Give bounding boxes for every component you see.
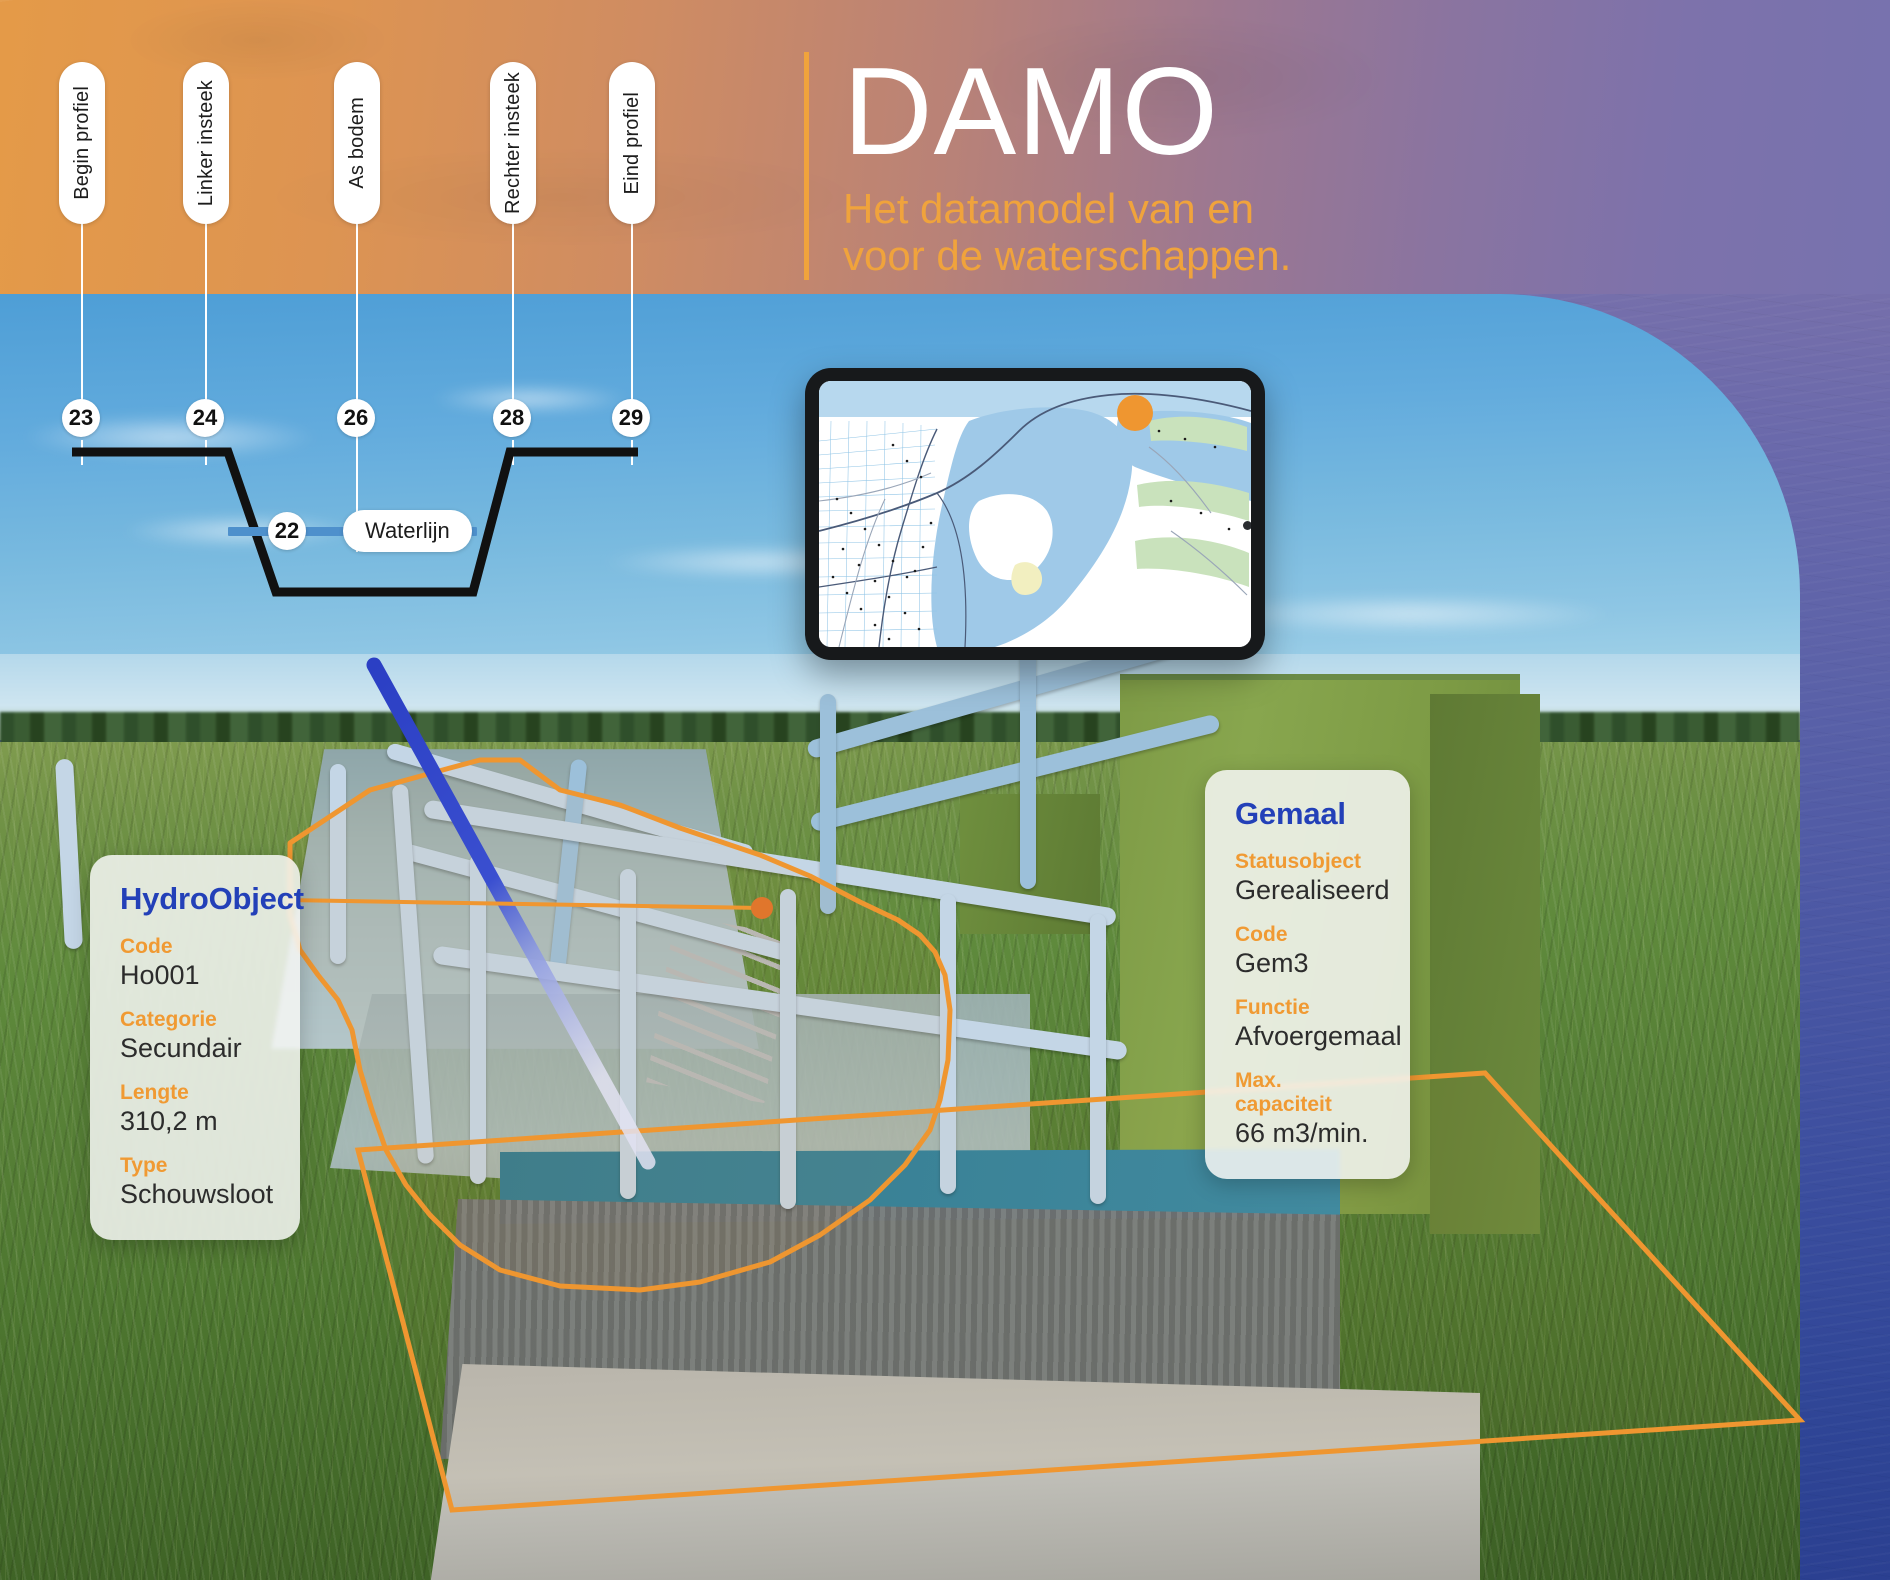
card-hydroobject-key-1: Categorie xyxy=(120,1008,270,1032)
badge-26[interactable]: 26 xyxy=(337,399,375,437)
subtitle-line-2: voor de waterschappen. xyxy=(843,232,1291,280)
label-pill-as-bodem-text: As bodem xyxy=(346,97,369,189)
concrete-platform xyxy=(420,1364,1480,1580)
card-hydroobject-value-1: Secundair xyxy=(120,1033,270,1064)
badge-28-text: 28 xyxy=(500,405,524,431)
card-gemaal[interactable]: Gemaal Statusobject Gerealiseerd Code Ge… xyxy=(1205,770,1410,1179)
label-pill-eind-profiel[interactable]: Eind profiel xyxy=(609,62,655,224)
badge-28[interactable]: 28 xyxy=(493,399,531,437)
card-gemaal-value-2: Afvoergemaal xyxy=(1235,1021,1380,1052)
waterline-label-pill[interactable]: Waterlijn xyxy=(343,510,472,552)
poster-canvas: DAMO Het datamodel van en voor de waters… xyxy=(0,0,1890,1580)
pump-station-side xyxy=(1430,694,1540,1234)
card-gemaal-key-3: Max. capaciteit xyxy=(1235,1069,1380,1117)
card-gemaal-value-1: Gem3 xyxy=(1235,948,1380,979)
leader-line-linker-insteek xyxy=(205,222,207,414)
badge-22-waterline[interactable]: 22 xyxy=(268,512,306,550)
leader-line-rechter-insteek-lower xyxy=(512,440,514,465)
label-pill-linker-insteek-text: Linker insteek xyxy=(195,80,218,206)
tablet-home-indicator xyxy=(1243,521,1251,530)
label-pill-rechter-insteek[interactable]: Rechter insteek xyxy=(490,62,536,224)
label-pill-as-bodem[interactable]: As bodem xyxy=(334,62,380,224)
card-gemaal-value-0: Gerealiseerd xyxy=(1235,875,1380,906)
leader-line-rechter-insteek xyxy=(512,222,514,414)
brand-block: DAMO Het datamodel van en voor de waters… xyxy=(804,52,1291,280)
card-hydroobject-value-3: Schouwsloot xyxy=(120,1179,270,1210)
badge-22-text: 22 xyxy=(275,518,299,544)
card-hydroobject-title: HydroObject xyxy=(120,881,270,917)
card-gemaal-key-2: Functie xyxy=(1235,996,1380,1020)
badge-24-text: 24 xyxy=(193,405,217,431)
label-pill-begin-profiel[interactable]: Begin profiel xyxy=(59,62,105,224)
waterline-label-text: Waterlijn xyxy=(365,518,450,544)
label-pill-rechter-insteek-text: Rechter insteek xyxy=(502,72,525,214)
leader-line-linker-insteek-lower xyxy=(205,440,207,465)
badge-23-text: 23 xyxy=(69,405,93,431)
leader-line-begin-profiel-lower xyxy=(81,440,83,465)
card-hydroobject-value-2: 310,2 m xyxy=(120,1106,270,1137)
map-view[interactable] xyxy=(819,381,1251,647)
card-hydroobject-value-0: Ho001 xyxy=(120,960,270,991)
page-title: DAMO xyxy=(843,54,1291,171)
badge-24[interactable]: 24 xyxy=(186,399,224,437)
tablet-device[interactable] xyxy=(805,368,1265,660)
cross-section-diagram: Begin profiel Linker insteek As bodem Re… xyxy=(0,0,760,640)
card-gemaal-key-0: Statusobject xyxy=(1235,850,1380,874)
label-pill-eind-profiel-text: Eind profiel xyxy=(621,92,644,194)
badge-26-text: 26 xyxy=(344,405,368,431)
leader-line-begin-profiel xyxy=(81,222,83,414)
label-pill-begin-profiel-text: Begin profiel xyxy=(71,86,94,200)
card-gemaal-title: Gemaal xyxy=(1235,796,1380,832)
map-marker-dot[interactable] xyxy=(1117,395,1153,431)
subtitle-line-1: Het datamodel van en xyxy=(843,185,1291,233)
accent-rule xyxy=(804,52,809,280)
leader-line-as-bodem xyxy=(356,222,358,552)
card-hydroobject-key-2: Lengte xyxy=(120,1081,270,1105)
badge-29-text: 29 xyxy=(619,405,643,431)
card-hydroobject-key-0: Code xyxy=(120,935,270,959)
card-hydroobject-key-3: Type xyxy=(120,1154,270,1178)
label-pill-linker-insteek[interactable]: Linker insteek xyxy=(183,62,229,224)
leader-line-eind-profiel xyxy=(631,222,633,414)
tablet-screen[interactable] xyxy=(819,381,1251,647)
badge-23[interactable]: 23 xyxy=(62,399,100,437)
card-gemaal-value-3: 66 m3/min. xyxy=(1235,1118,1380,1149)
leader-line-eind-profiel-lower xyxy=(631,440,633,465)
badge-29[interactable]: 29 xyxy=(612,399,650,437)
card-gemaal-key-1: Code xyxy=(1235,923,1380,947)
card-hydroobject[interactable]: HydroObject Code Ho001 Categorie Secunda… xyxy=(90,855,300,1240)
